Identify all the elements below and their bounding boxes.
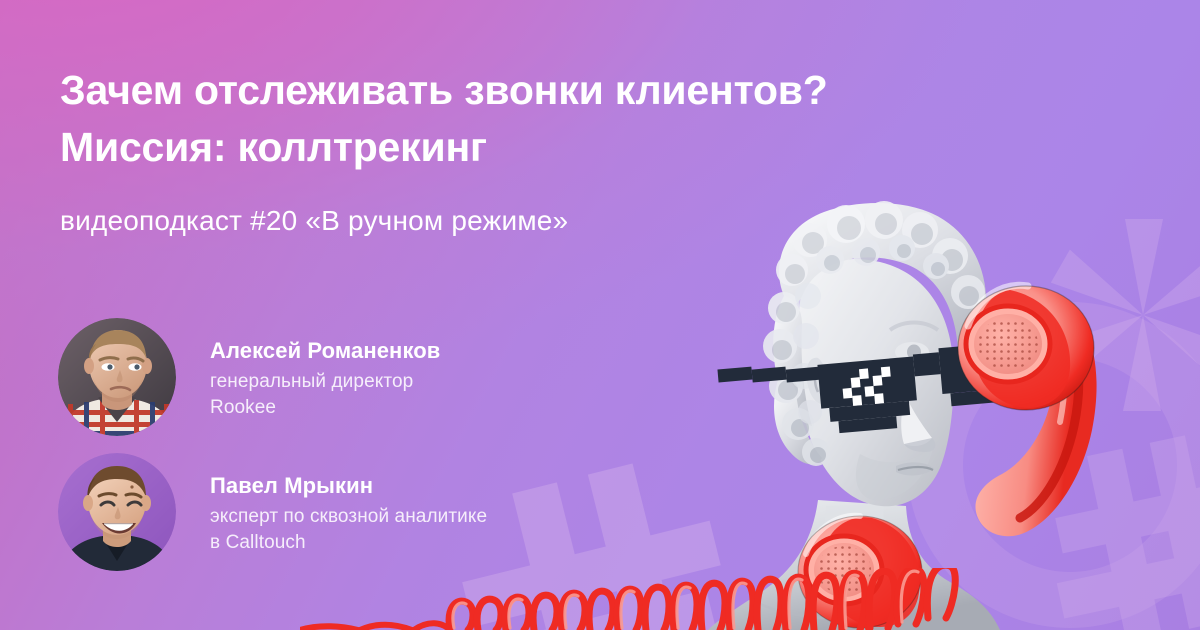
speakers-list: Алексей Романенков генеральный директор … xyxy=(58,318,678,588)
speaker-name: Павел Мрыкин xyxy=(210,471,487,501)
david-statue-artwork xyxy=(700,200,1200,630)
avatar-alexey-romanenkov xyxy=(58,318,176,436)
speaker-role: эксперт по сквозной аналитике в Calltouc… xyxy=(210,504,487,556)
speaker-role-line-1: генеральный директор xyxy=(210,369,440,395)
speaker-role-line-2: в Calltouch xyxy=(210,530,487,556)
speaker-name: Алексей Романенков xyxy=(210,336,440,366)
speaker-item: Алексей Романенков генеральный директор … xyxy=(58,318,678,453)
speaker-info: Павел Мрыкин эксперт по сквозной аналити… xyxy=(210,471,487,556)
speaker-item: Павел Мрыкин эксперт по сквозной аналити… xyxy=(58,453,678,588)
podcast-banner: Зачем отслеживать звонки клиентов? Мисси… xyxy=(0,0,1200,630)
podcast-subtitle: видеоподкаст #20 «В ручном режиме» xyxy=(60,203,568,239)
title-line-1: Зачем отслеживать звонки клиентов? xyxy=(60,62,820,119)
speaker-role: генеральный директор Rookee xyxy=(210,369,440,421)
page-title: Зачем отслеживать звонки клиентов? Мисси… xyxy=(60,62,820,176)
title-line-2: Миссия: коллтрекинг xyxy=(60,119,820,176)
avatar-pavel-mrykin xyxy=(58,453,176,571)
speaker-role-line-2: Rookee xyxy=(210,395,440,421)
speaker-role-line-1: эксперт по сквозной аналитике xyxy=(210,504,487,530)
speaker-info: Алексей Романенков генеральный директор … xyxy=(210,336,440,421)
